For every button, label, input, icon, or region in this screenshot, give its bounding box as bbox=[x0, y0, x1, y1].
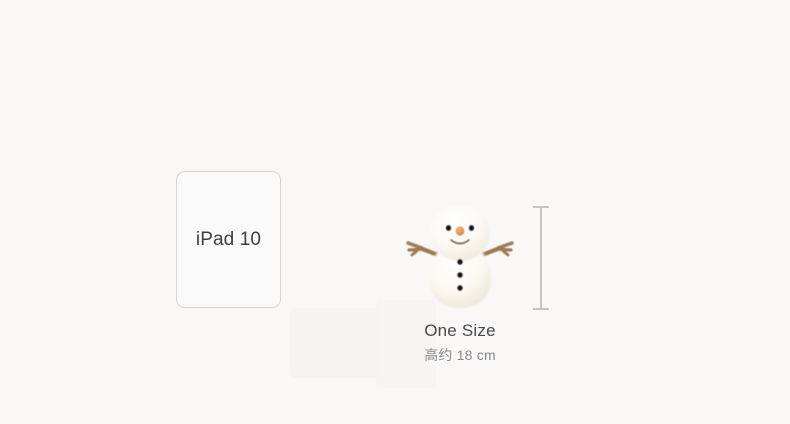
height-measurement-bar bbox=[531, 206, 551, 310]
snowman-plush-figure bbox=[396, 202, 524, 314]
measurement-cap-bottom bbox=[533, 308, 549, 310]
ipad-reference-label: iPad 10 bbox=[177, 172, 280, 307]
carrot-nose-icon bbox=[456, 226, 465, 235]
size-label: One Size bbox=[396, 320, 524, 342]
watermark-blotch-left bbox=[290, 308, 380, 378]
measurement-stem bbox=[540, 206, 542, 310]
size-detail-label: 高约 18 cm bbox=[396, 345, 524, 365]
size-caption: One Size 高约 18 cm bbox=[396, 320, 524, 365]
right-eye-icon bbox=[469, 225, 474, 231]
left-eye-icon bbox=[446, 225, 451, 231]
ipad-reference-frame: iPad 10 bbox=[176, 171, 281, 308]
product-size-comparison-stage: iPad 10 bbox=[0, 0, 790, 424]
